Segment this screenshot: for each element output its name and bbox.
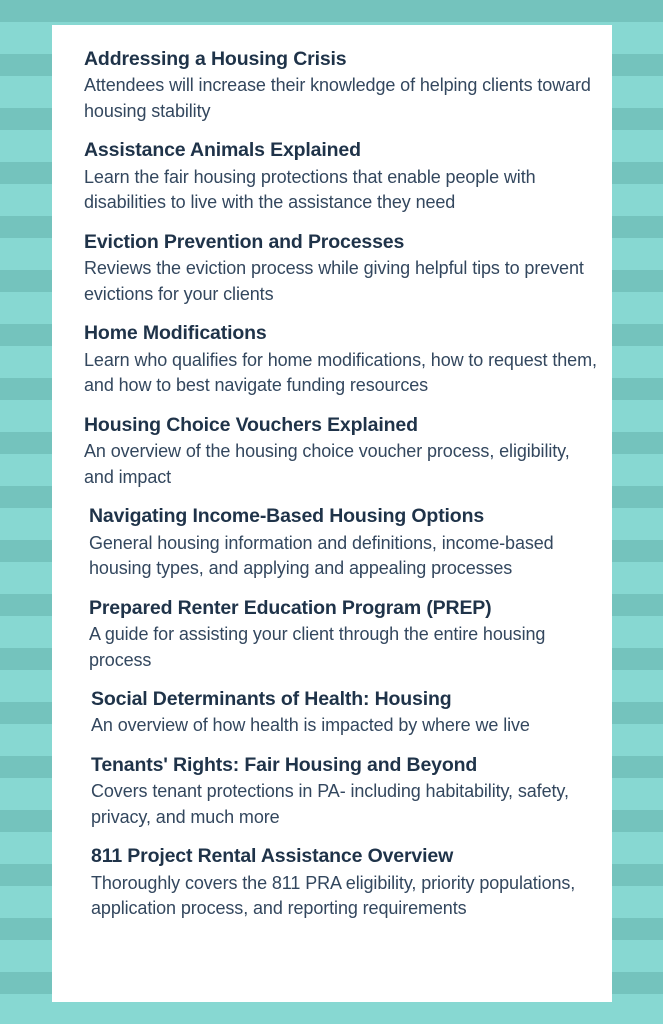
session-list-card: Addressing a Housing Crisis Attendees wi… [52,25,612,1002]
session-description: A guide for assisting your client throug… [89,622,600,673]
session-list: Addressing a Housing Crisis Attendees wi… [52,25,612,922]
list-item[interactable]: Addressing a Housing Crisis Attendees wi… [52,47,612,124]
session-description: Learn the fair housing protections that … [84,165,600,216]
session-description: Learn who qualifies for home modificatio… [84,348,600,399]
session-title: Addressing a Housing Crisis [84,47,600,72]
list-item[interactable]: Home Modifications Learn who qualifies f… [52,321,612,398]
session-title: Eviction Prevention and Processes [84,230,600,255]
session-title: Assistance Animals Explained [84,138,600,163]
session-description: Thoroughly covers the 811 PRA eligibilit… [91,871,600,922]
session-title: Home Modifications [84,321,600,346]
session-title: Tenants' Rights: Fair Housing and Beyond [91,753,600,778]
session-title: Navigating Income-Based Housing Options [89,504,600,529]
session-title: Housing Choice Vouchers Explained [84,413,600,438]
session-title: 811 Project Rental Assistance Overview [91,844,600,869]
session-description: Covers tenant protections in PA- includi… [91,779,600,830]
session-title: Social Determinants of Health: Housing [91,687,600,712]
list-item[interactable]: Social Determinants of Health: Housing A… [52,687,612,739]
list-item[interactable]: Assistance Animals Explained Learn the f… [52,138,612,215]
session-description: General housing information and definiti… [89,531,600,582]
session-description: Attendees will increase their knowledge … [84,73,600,124]
list-item[interactable]: Housing Choice Vouchers Explained An ove… [52,413,612,490]
list-item[interactable]: 811 Project Rental Assistance Overview T… [52,844,612,921]
list-item[interactable]: Prepared Renter Education Program (PREP)… [52,596,612,673]
session-title: Prepared Renter Education Program (PREP) [89,596,600,621]
list-item[interactable]: Tenants' Rights: Fair Housing and Beyond… [52,753,612,830]
list-item[interactable]: Eviction Prevention and Processes Review… [52,230,612,307]
session-description: An overview of the housing choice vouche… [84,439,600,490]
session-description: Reviews the eviction process while givin… [84,256,600,307]
poster-background: { "theme": { "stripe_dark": "#74c3bd", "… [0,0,663,1024]
session-description: An overview of how health is impacted by… [91,713,600,739]
list-item[interactable]: Navigating Income-Based Housing Options … [52,504,612,581]
